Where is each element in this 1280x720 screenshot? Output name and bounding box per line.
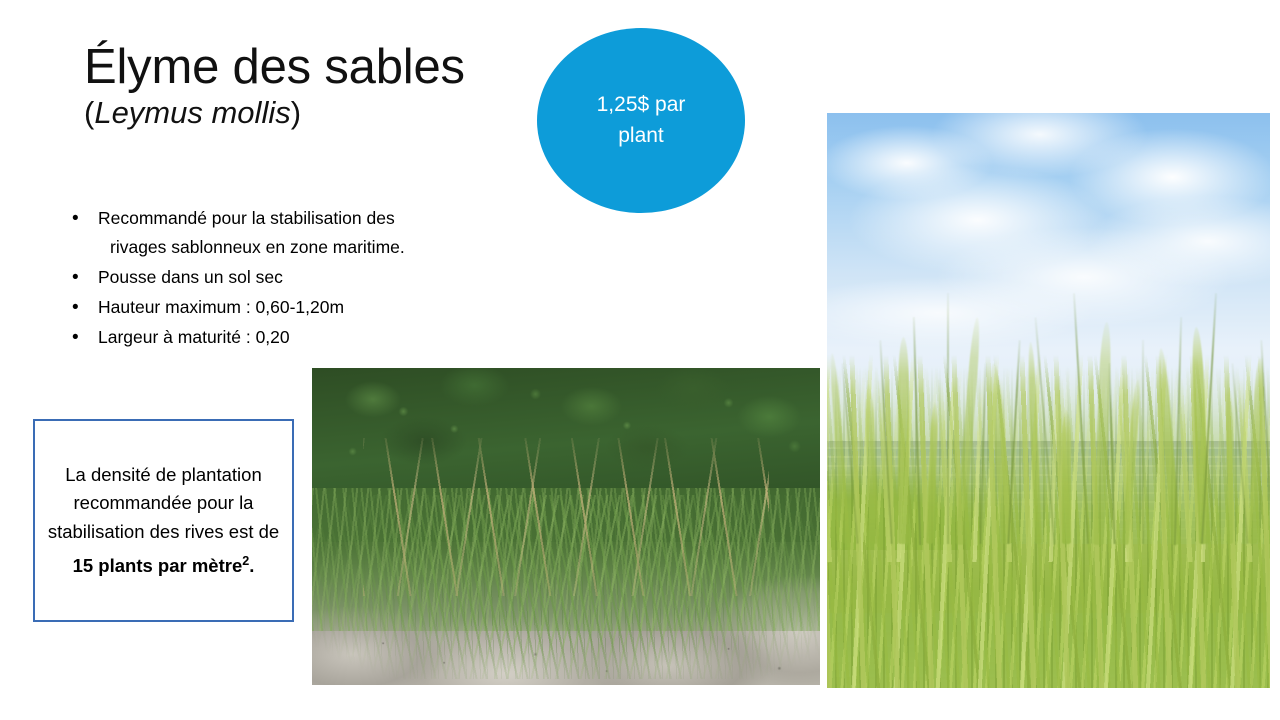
list-item: • Pousse dans un sol sec	[72, 263, 542, 292]
callout-emphasis-tail: .	[249, 555, 254, 576]
grass-seed-spike	[1122, 379, 1142, 545]
grass-seed-spike	[926, 402, 938, 544]
callout-emphasis-text: 15 plants par mètre	[73, 555, 243, 576]
bullet-dot-icon: •	[72, 293, 98, 322]
list-item-text: Pousse dans un sol sec	[98, 263, 283, 292]
grass-stem	[1072, 293, 1088, 544]
price-badge: 1,25$ par plant	[537, 28, 745, 213]
list-item-line-2: rivages sablonneux en zone maritime.	[98, 233, 405, 262]
callout-lead-text: La densité de plantation recommandée pou…	[48, 464, 279, 542]
grass-seed-spike	[829, 353, 851, 544]
list-item-text: Recommandé pour la stabilisation des riv…	[98, 204, 405, 262]
list-item-text: Largeur à maturité : 0,20	[98, 323, 290, 352]
grass-stem	[1260, 340, 1270, 544]
grass-stem	[1142, 340, 1144, 544]
photo-elymus-on-rocky-shore	[312, 368, 820, 685]
grass-seed-spike	[898, 337, 909, 544]
callout-emphasis: 15 plants par mètre2.	[73, 555, 255, 576]
feature-bullet-list: • Recommandé pour la stabilisation des r…	[72, 204, 542, 353]
paren-open: (	[84, 95, 94, 130]
list-item: • Largeur à maturité : 0,20	[72, 323, 542, 352]
scientific-name: (Leymus mollis)	[84, 95, 524, 131]
planting-density-text: La densité de plantation recommandée pou…	[35, 461, 292, 580]
title-block: Élyme des sables (Leymus mollis)	[84, 42, 524, 131]
price-badge-label: 1,25$ par plant	[581, 90, 701, 151]
photo-layer-tall-spikes	[827, 286, 1270, 545]
slide-canvas: Élyme des sables (Leymus mollis) 1,25$ p…	[0, 0, 1280, 720]
photo-layer-dry-stalks	[363, 438, 769, 597]
bullet-dot-icon: •	[72, 263, 98, 292]
page-title: Élyme des sables	[84, 42, 524, 93]
grass-stem	[1007, 340, 1020, 544]
grass-stem	[912, 317, 920, 545]
grass-stem	[1231, 363, 1248, 544]
bullet-dot-icon: •	[72, 323, 98, 352]
list-item: • Recommandé pour la stabilisation des r…	[72, 204, 542, 262]
list-item-text: Hauteur maximum : 0,60-1,20m	[98, 293, 344, 322]
list-item: • Hauteur maximum : 0,60-1,20m	[72, 293, 542, 322]
grass-stem	[980, 363, 987, 544]
photo-elymus-dune-seashore	[827, 113, 1270, 688]
scientific-name-text: Leymus mollis	[94, 95, 290, 130]
grass-stem	[879, 340, 892, 544]
grass-stem	[947, 293, 949, 544]
grass-stem	[1108, 363, 1115, 544]
grass-seed-spike	[864, 384, 879, 545]
list-item-line-1: Recommandé pour la stabilisation des	[98, 208, 395, 228]
grass-seed-spike	[956, 317, 982, 545]
bullet-dot-icon: •	[72, 204, 98, 233]
grass-seed-spike	[1062, 410, 1071, 545]
planting-density-callout: La densité de plantation recommandée pou…	[33, 419, 294, 622]
grass-seed-spike	[1226, 389, 1233, 544]
paren-close: )	[291, 95, 301, 130]
